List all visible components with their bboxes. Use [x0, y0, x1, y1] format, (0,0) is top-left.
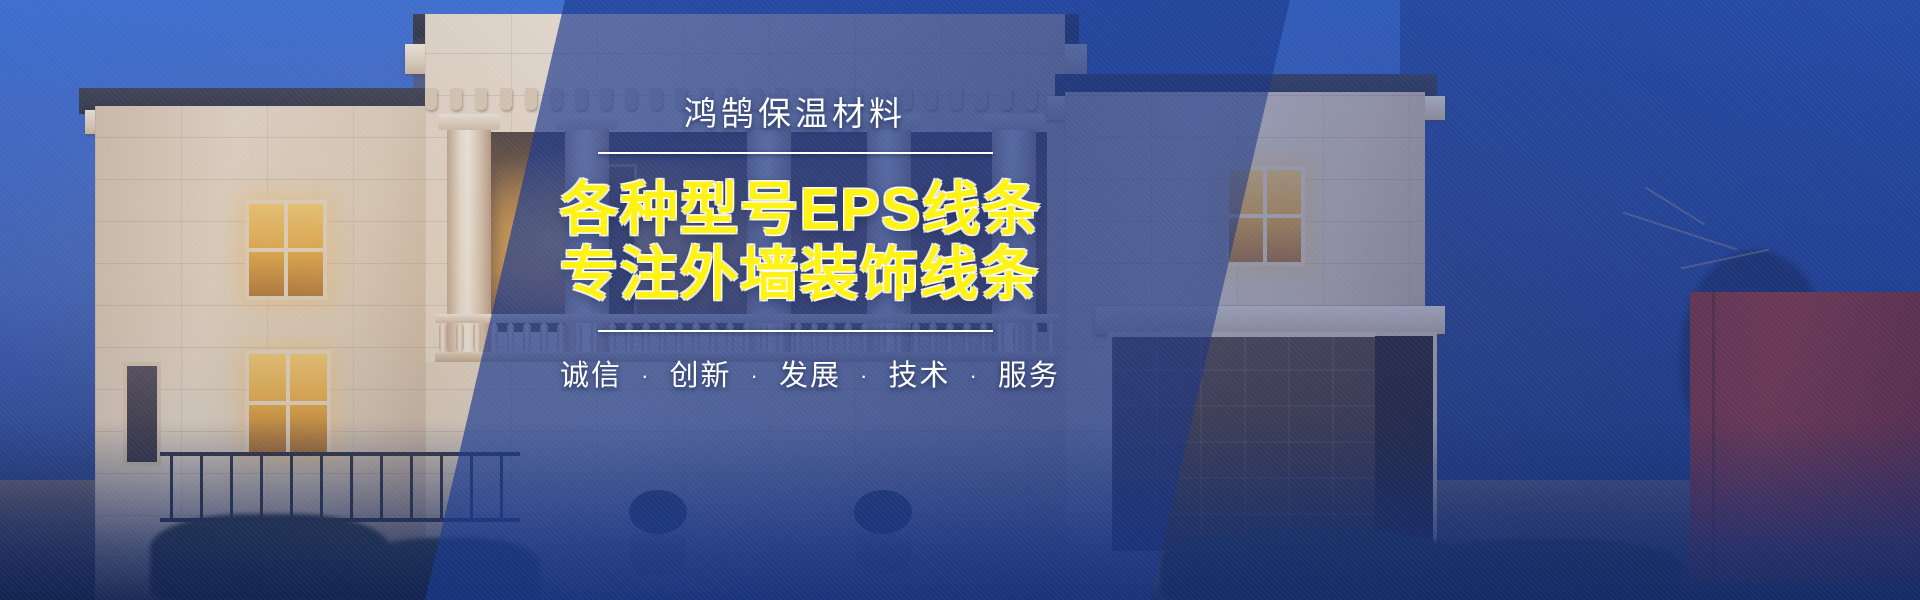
slogan-separator: · [969, 363, 978, 388]
banner-text-block: 鸿鹄保温材料 各种型号EPS线条 专注外墙装饰线条 诚信 · 创新 · 发展 ·… [560, 96, 1030, 394]
brand-name: 鸿鹄保温材料 [560, 96, 1030, 132]
slogan-separator: · [751, 363, 760, 388]
slogan-item: 创新 [669, 360, 731, 392]
slogan: 诚信 · 创新 · 发展 · 技术 · 服务 [560, 352, 1030, 394]
headline-line-2: 专注外墙装饰线条 [560, 243, 1030, 308]
headline-line-1: 各种型号EPS线条 [560, 178, 1030, 243]
divider-top [598, 152, 993, 154]
slogan-item: 诚信 [560, 360, 622, 392]
slogan-separator: · [641, 363, 650, 388]
divider-bottom [598, 330, 993, 332]
headline-group: 各种型号EPS线条 专注外墙装饰线条 [560, 178, 1030, 308]
promo-banner: 鸿鹄保温材料 各种型号EPS线条 专注外墙装饰线条 诚信 · 创新 · 发展 ·… [0, 0, 1920, 600]
slogan-item: 发展 [779, 360, 841, 392]
slogan-item: 服务 [998, 360, 1060, 392]
slogan-separator: · [860, 363, 869, 388]
slogan-item: 技术 [888, 360, 950, 392]
